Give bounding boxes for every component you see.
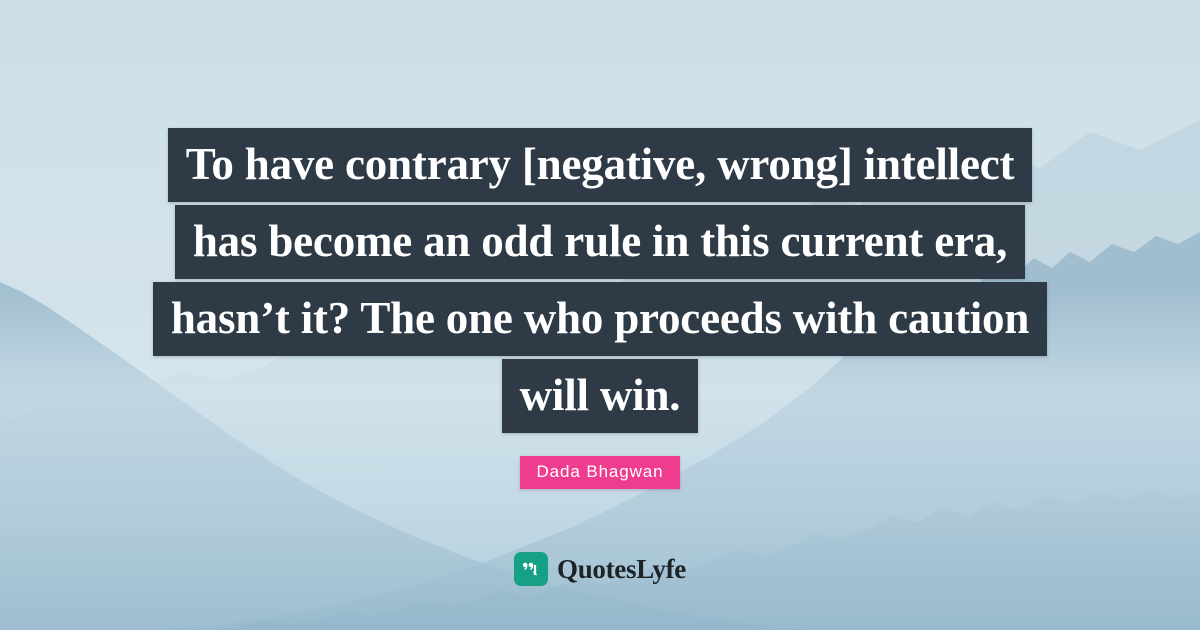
quote-block: To have contrary [negative, wrong] intel… <box>0 128 1200 436</box>
quote-line: hasn’t it? The one who proceeds with cau… <box>153 282 1047 356</box>
quote-content: To have contrary [negative, wrong] intel… <box>0 0 1200 630</box>
quote-line: To have contrary [negative, wrong] intel… <box>168 128 1033 202</box>
quote-mark-icon <box>514 552 548 586</box>
brand-logo: QuotesLyfe <box>0 552 1200 586</box>
quote-line: will win. <box>502 359 699 433</box>
author-name: Dada Bhagwan <box>520 456 679 489</box>
quote-image-card: To have contrary [negative, wrong] intel… <box>0 0 1200 630</box>
brand-name: QuotesLyfe <box>557 556 686 583</box>
author-attribution: Dada Bhagwan <box>520 456 679 489</box>
quote-line: has become an odd rule in this current e… <box>175 205 1025 279</box>
